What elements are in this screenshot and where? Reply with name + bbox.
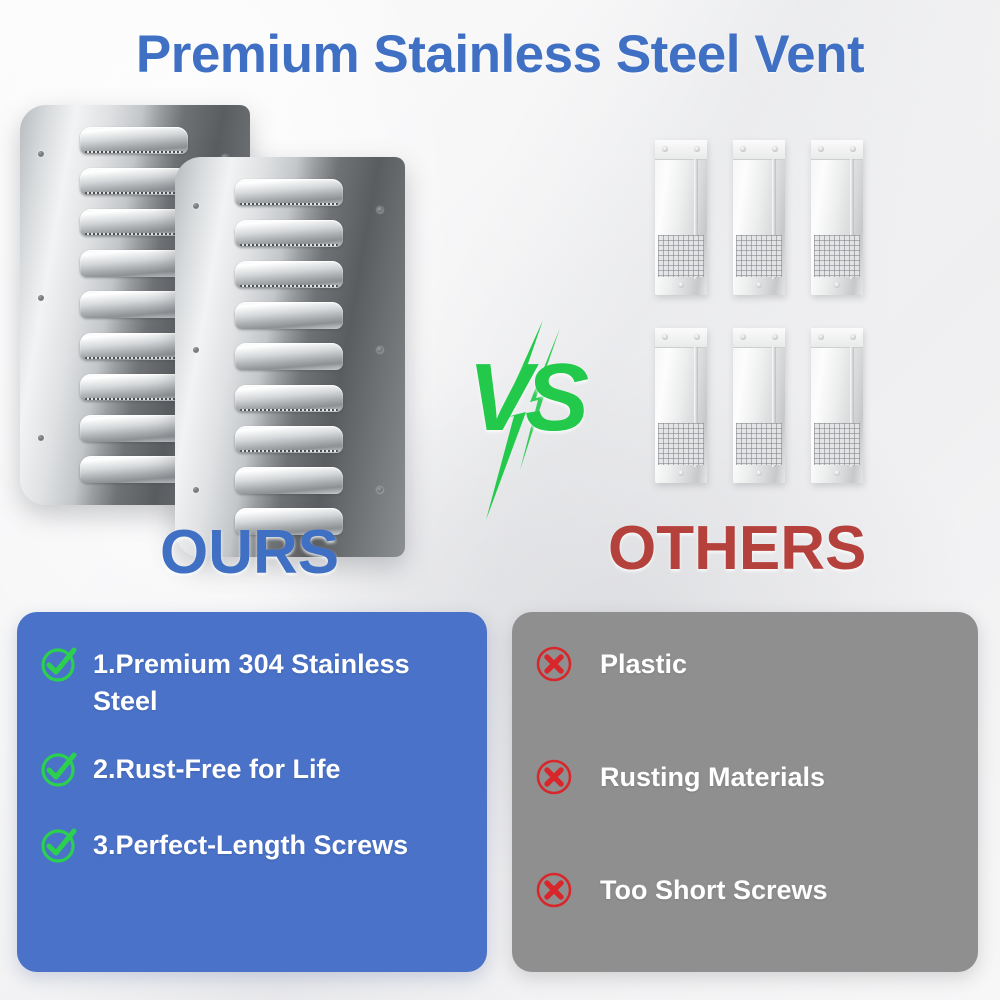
screw-hole — [377, 347, 383, 353]
mesh-grille — [658, 423, 704, 465]
feature-item: 2.Rust-Free for Life — [39, 751, 459, 789]
others-feature-panel: Plastic Rusting Materials Too Short Scre… — [512, 612, 978, 972]
louver-slot — [235, 302, 343, 329]
mesh-grille — [658, 235, 704, 277]
comparison-infographic: Premium Stainless Steel Vent — [0, 0, 1000, 1000]
feature-item: Too Short Screws — [534, 872, 950, 910]
perforated-mesh-backing — [395, 159, 425, 555]
screw-hole — [818, 334, 824, 340]
screw-hole — [740, 146, 746, 152]
mesh-grille — [814, 423, 860, 465]
feature-item: Rusting Materials — [534, 759, 950, 797]
screw-hole — [38, 151, 44, 157]
check-circle-icon — [39, 825, 79, 865]
competitor-vent — [811, 328, 863, 483]
feature-text: 3.Perfect-Length Screws — [93, 827, 408, 864]
mesh-grille — [736, 235, 782, 277]
x-circle-icon — [534, 870, 574, 910]
louver-slot — [80, 209, 188, 236]
louver-slot — [80, 374, 188, 401]
louver-slot — [235, 385, 343, 412]
screw-hole — [756, 282, 762, 288]
louver-slot — [80, 291, 188, 318]
louver-slot — [80, 168, 188, 195]
feature-item: 3.Perfect-Length Screws — [39, 827, 459, 865]
screw-hole — [377, 207, 383, 213]
competitor-vent — [655, 140, 707, 295]
louver-group — [235, 179, 343, 535]
ours-feature-panel: 1.Premium 304 Stainless Steel 2.Rust-Fre… — [17, 612, 487, 972]
louver-slot — [80, 415, 188, 442]
competitor-vent — [655, 328, 707, 483]
competitor-vent — [733, 328, 785, 483]
check-circle-icon — [39, 749, 79, 789]
louver-slot — [80, 127, 188, 154]
screw-hole — [756, 470, 762, 476]
section-label-others: OTHERS — [608, 518, 866, 580]
screw-hole — [772, 334, 778, 340]
competitor-vent — [811, 140, 863, 295]
screw-hole — [38, 435, 44, 441]
x-circle-icon — [534, 757, 574, 797]
screw-hole — [694, 146, 700, 152]
screw-hole — [678, 470, 684, 476]
louver-slot — [80, 333, 188, 360]
louver-slot — [235, 220, 343, 247]
section-label-ours: OURS — [160, 522, 339, 584]
screw-hole — [662, 334, 668, 340]
louver-slot — [235, 261, 343, 288]
screw-hole — [850, 334, 856, 340]
louver-slot — [80, 456, 188, 483]
vs-badge: VS — [440, 320, 610, 520]
louver-slot — [80, 250, 188, 277]
feature-text: Rusting Materials — [600, 759, 825, 796]
x-circle-icon — [534, 644, 574, 684]
feature-text: 2.Rust-Free for Life — [93, 751, 341, 788]
competitor-product-grid — [655, 140, 885, 490]
louver-slot — [235, 179, 343, 206]
feature-text: Plastic — [600, 646, 687, 683]
page-title: Premium Stainless Steel Vent — [0, 24, 1000, 85]
mesh-grille — [736, 423, 782, 465]
check-circle-icon — [39, 644, 79, 684]
feature-item: 1.Premium 304 Stainless Steel — [39, 646, 459, 721]
competitor-vent — [733, 140, 785, 295]
mesh-grille — [814, 235, 860, 277]
louver-slot — [235, 467, 343, 494]
screw-hole — [772, 146, 778, 152]
screw-hole — [193, 487, 199, 493]
feature-item: Plastic — [534, 646, 950, 684]
screw-hole — [38, 295, 44, 301]
louver-slot — [235, 343, 343, 370]
our-vent-product-2 — [175, 157, 405, 557]
screw-hole — [850, 146, 856, 152]
feature-text: Too Short Screws — [600, 872, 828, 909]
screw-hole — [662, 146, 668, 152]
screw-hole — [694, 334, 700, 340]
screw-hole — [834, 282, 840, 288]
screw-hole — [834, 470, 840, 476]
screw-hole — [818, 146, 824, 152]
screw-hole — [193, 203, 199, 209]
louver-slot — [235, 426, 343, 453]
feature-text: 1.Premium 304 Stainless Steel — [93, 646, 433, 721]
product-comparison-stage: VS — [0, 95, 1000, 515]
screw-hole — [740, 334, 746, 340]
vs-label: VS — [440, 350, 610, 446]
louver-group — [80, 127, 188, 483]
screw-hole — [193, 347, 199, 353]
screw-hole — [678, 282, 684, 288]
screw-hole — [377, 487, 383, 493]
